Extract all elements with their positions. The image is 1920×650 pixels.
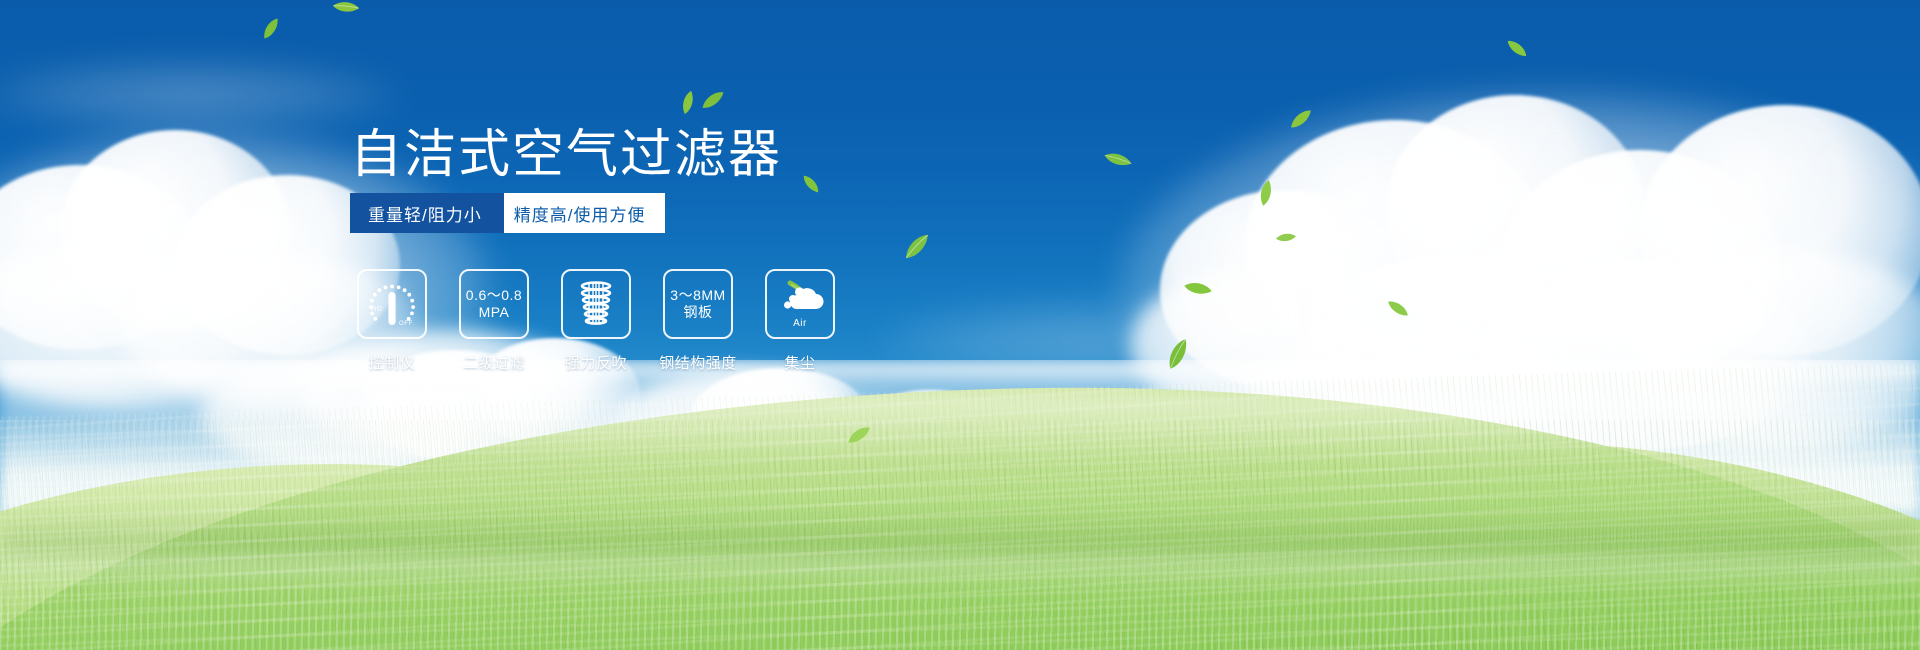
feature-icon-box: Air: [765, 269, 835, 339]
tagline-right: 精度高/使用方便: [488, 193, 666, 233]
feature-caption: 集尘: [784, 352, 815, 373]
feature-icon-box: 3～8MM 钢板: [663, 269, 733, 339]
cloud-air-icon: [774, 279, 826, 317]
feature-caption: 钢结构强度: [659, 352, 737, 373]
air-label: Air: [793, 318, 807, 330]
feature-item-blowback: 强力反吹: [560, 269, 632, 373]
tagline-group: 重量轻/阻力小 精度高/使用方便: [350, 193, 665, 233]
feature-list: NO OFF 控制仪 0.6～0.8 MPA 二级过滤: [356, 269, 836, 373]
gauge-label-no: NO: [372, 306, 382, 313]
feature-icon-box: [561, 269, 631, 339]
tagline-left: 重量轻/阻力小: [350, 193, 504, 233]
feature-item-controller: NO OFF 控制仪: [356, 269, 428, 373]
feature-caption: 强力反吹: [565, 352, 627, 373]
hero-banner: 自洁式空气过滤器 重量轻/阻力小 精度高/使用方便: [0, 0, 1920, 650]
coil-filter-icon: [571, 279, 621, 329]
steel-thickness-text: 3～8MM: [670, 287, 725, 304]
feature-item-steel: 3～8MM 钢板 钢结构强度: [662, 269, 734, 373]
feature-icon-box: 0.6～0.8 MPA: [459, 269, 529, 339]
gauge-dial-icon: NO OFF: [365, 280, 419, 328]
feature-caption: 控制仪: [369, 352, 416, 373]
pressure-range-text: 0.6～0.8: [466, 287, 522, 304]
feature-item-pressure: 0.6～0.8 MPA 二级过滤: [458, 269, 530, 373]
gauge-label-off: OFF: [399, 320, 413, 327]
page-title: 自洁式空气过滤器: [350, 112, 782, 187]
feature-caption: 二级过滤: [463, 352, 525, 373]
feature-icon-box: NO OFF: [357, 269, 427, 339]
steel-plate-text: 钢板: [684, 304, 713, 321]
pressure-unit-text: MPA: [479, 304, 510, 321]
banner-content: 自洁式空气过滤器 重量轻/阻力小 精度高/使用方便: [0, 0, 1920, 650]
feature-item-dust: Air 集尘: [764, 269, 836, 373]
